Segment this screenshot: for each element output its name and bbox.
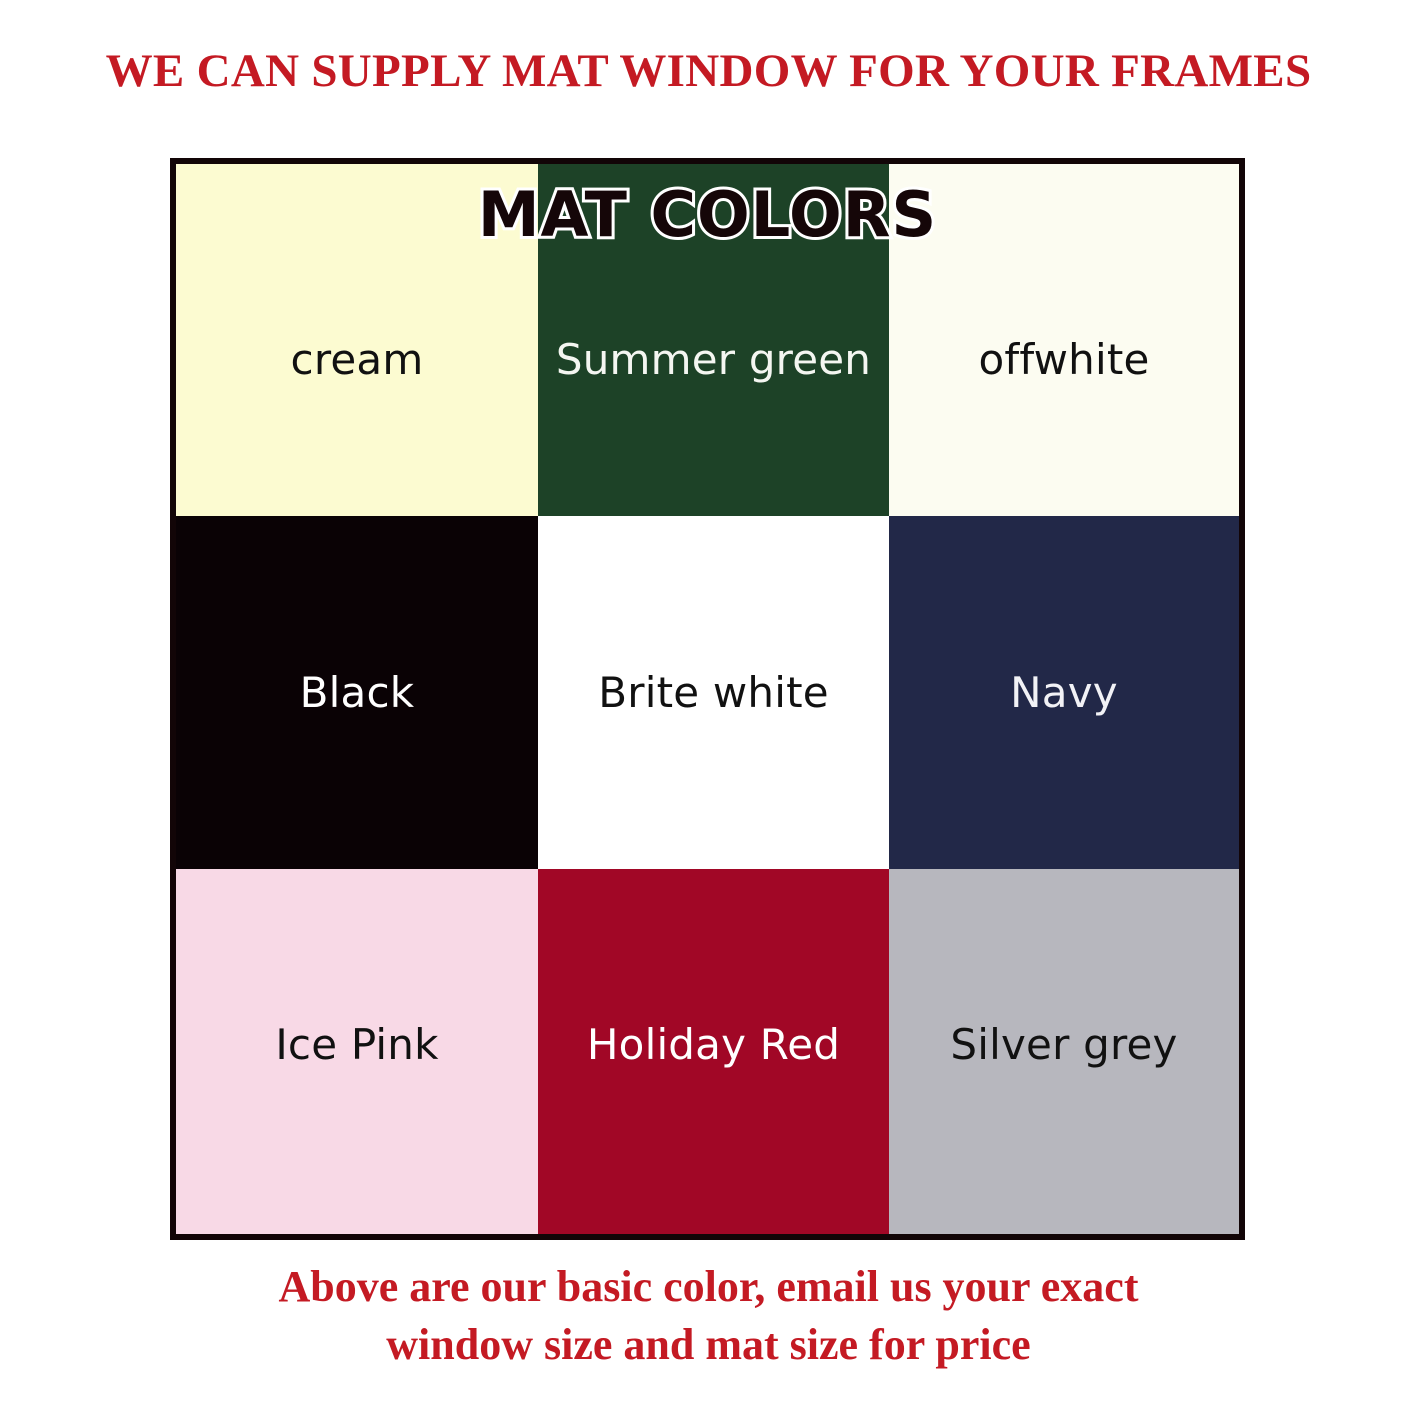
swatch-label: Brite white	[598, 672, 829, 714]
swatch-label: cream	[291, 339, 424, 381]
swatch-label: Summer green	[556, 339, 871, 381]
swatch-cell-cream[interactable]: cream	[176, 164, 538, 516]
swatch-cell-silver-grey[interactable]: Silver grey	[889, 869, 1239, 1234]
swatch-cell-offwhite[interactable]: offwhite	[889, 164, 1239, 516]
swatch-label: Ice Pink	[275, 1024, 438, 1066]
swatch-cell-black[interactable]: Black	[176, 516, 538, 869]
footer-note: Above are our basic color, email us your…	[0, 1258, 1417, 1374]
swatch-label: Silver grey	[950, 1024, 1177, 1066]
swatch-label: Navy	[1010, 672, 1118, 714]
footer-note-line-1: Above are our basic color, email us your…	[0, 1258, 1417, 1316]
swatch-label: Black	[300, 672, 415, 714]
swatch-cell-holiday-red[interactable]: Holiday Red	[538, 869, 889, 1234]
swatch-label: Holiday Red	[587, 1024, 840, 1066]
page-title: WE CAN SUPPLY MAT WINDOW FOR YOUR FRAMES	[0, 44, 1417, 98]
mat-colors-swatch-grid: MAT COLORS cream Summer green offwhite B…	[170, 158, 1245, 1240]
swatch-cell-summer-green[interactable]: Summer green	[538, 164, 889, 516]
swatch-label: offwhite	[978, 339, 1149, 381]
swatch-cell-navy[interactable]: Navy	[889, 516, 1239, 869]
swatch-cell-ice-pink[interactable]: Ice Pink	[176, 869, 538, 1234]
footer-note-line-2: window size and mat size for price	[0, 1316, 1417, 1374]
swatch-cell-brite-white[interactable]: Brite white	[538, 516, 889, 869]
